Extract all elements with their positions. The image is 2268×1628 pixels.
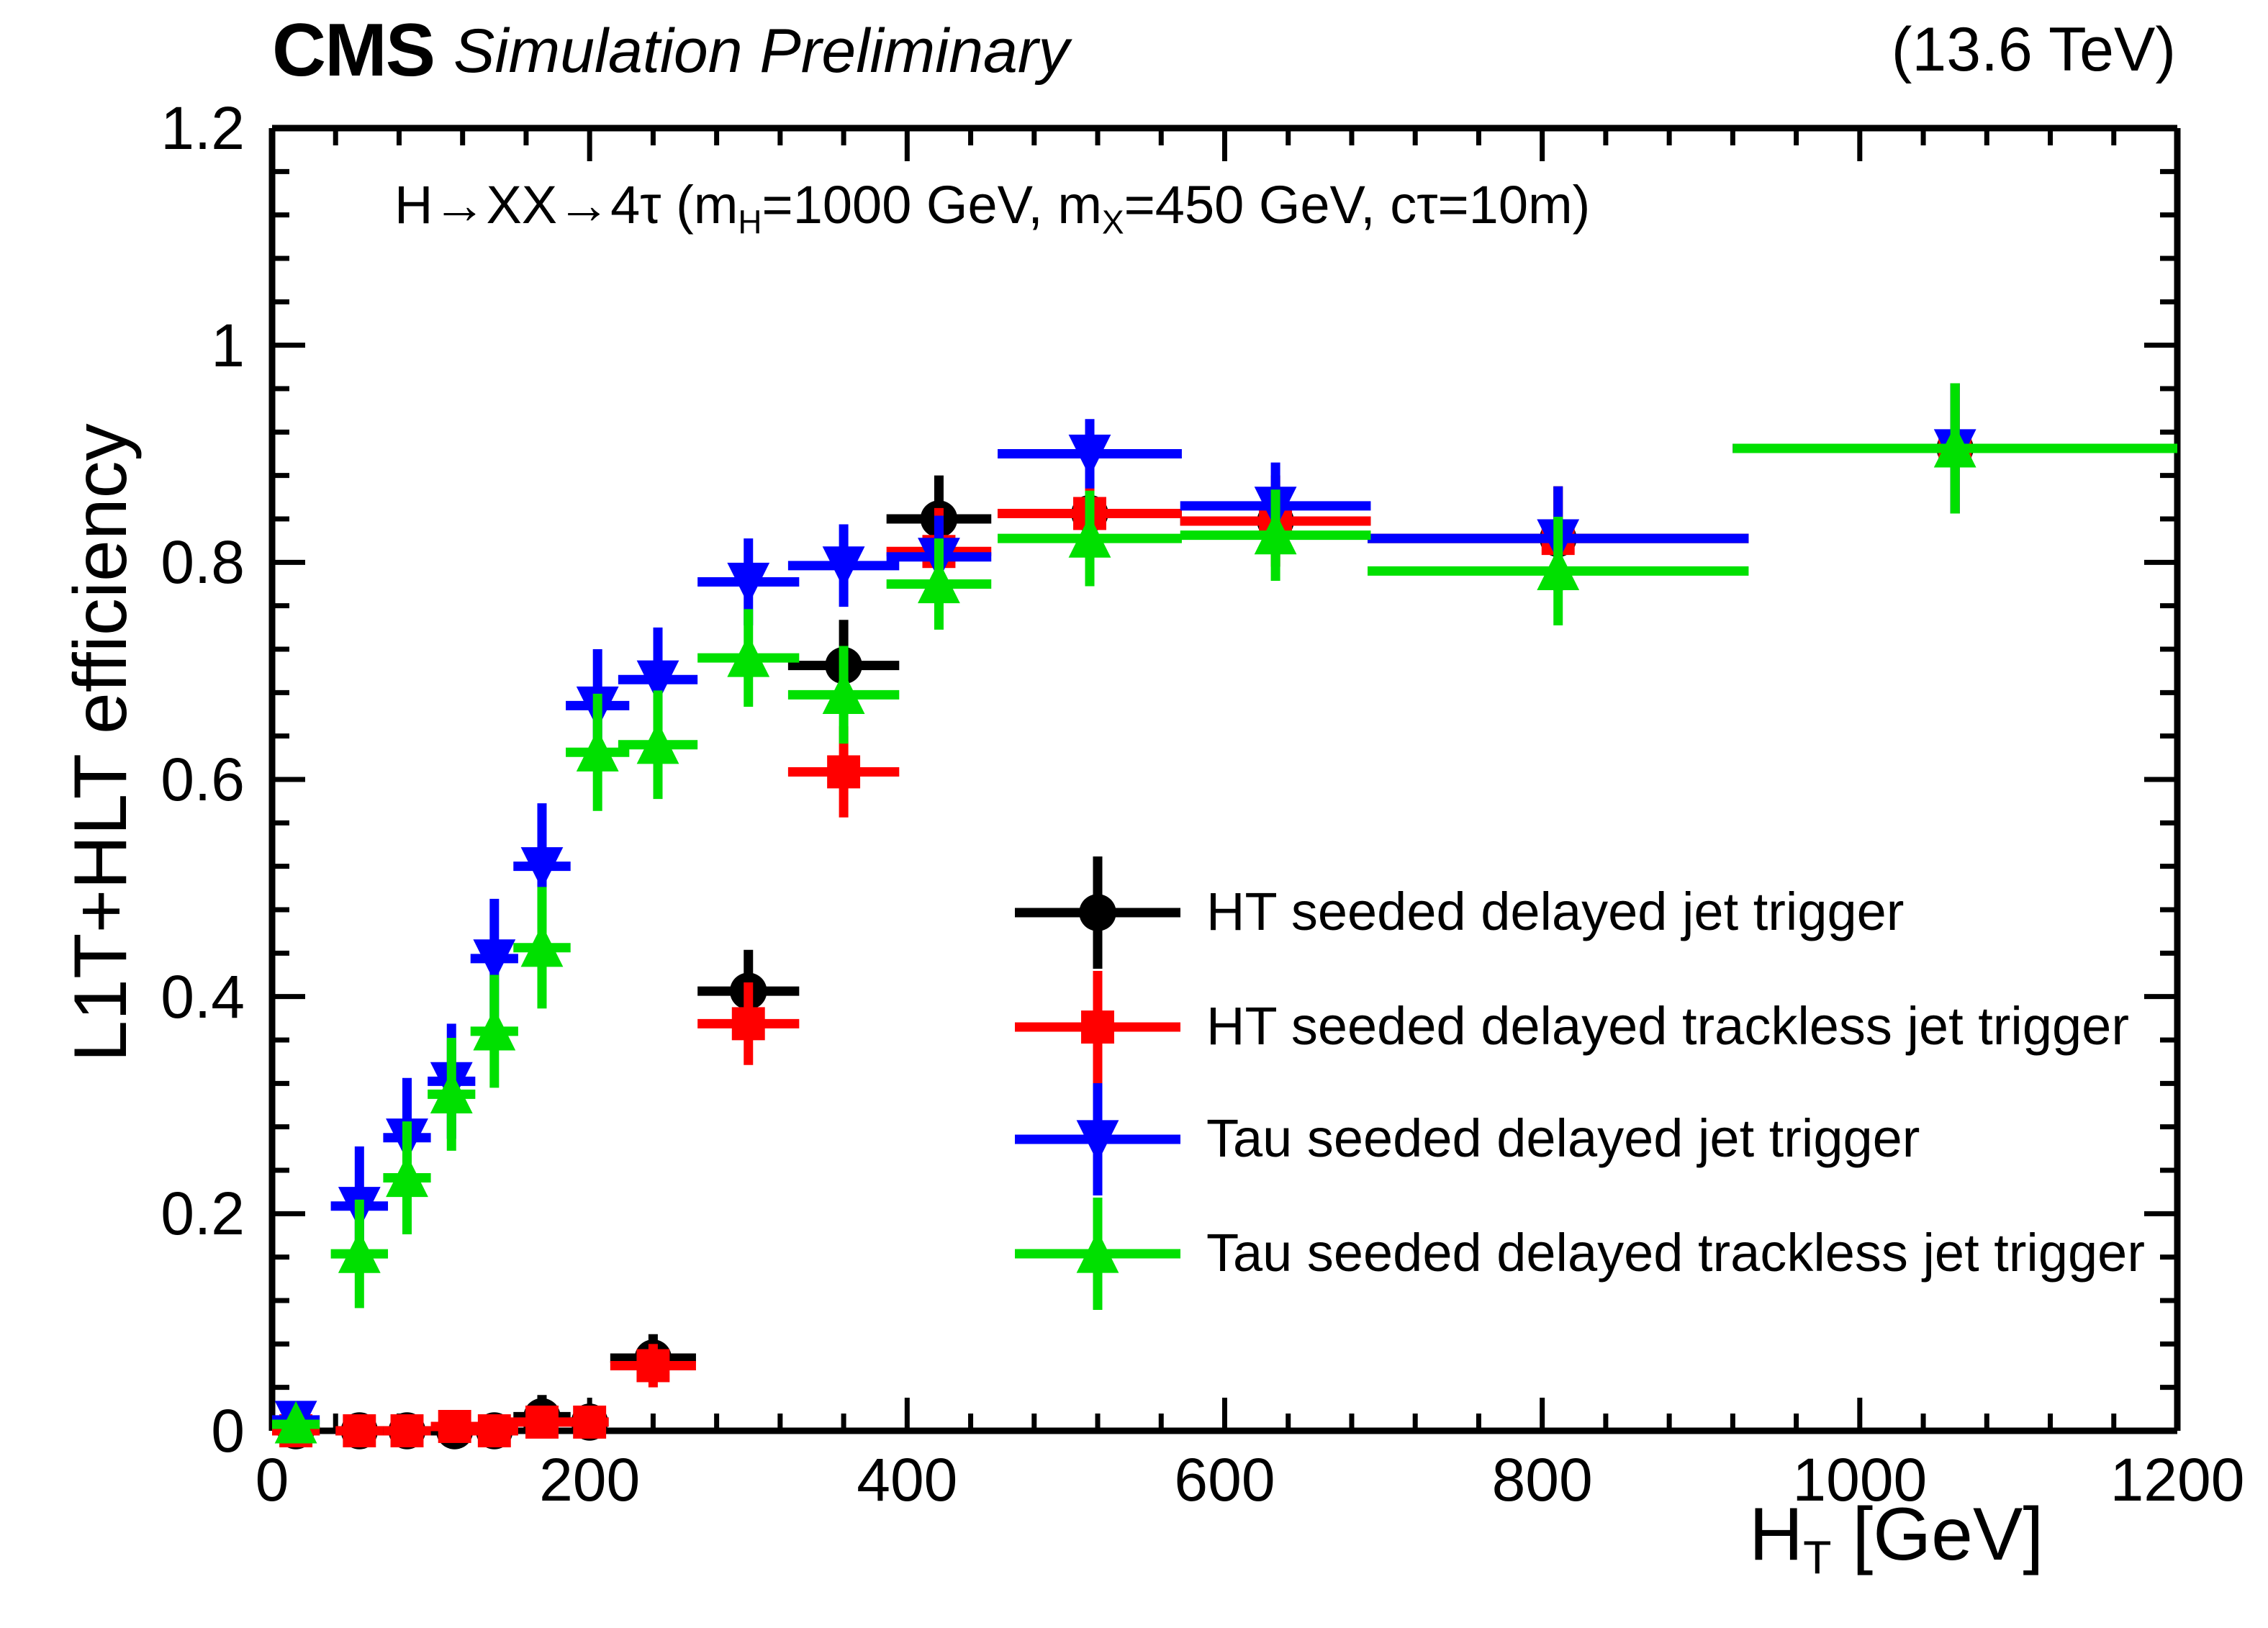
legend-label-1[interactable]: HT seeded delayed trackless jet trigger <box>1206 1000 2129 1053</box>
data-marker-square <box>827 755 860 788</box>
legend-label-3[interactable]: Tau seeded delayed trackless jet trigger <box>1206 1226 2145 1280</box>
data-marker-square <box>732 1007 765 1040</box>
y-tick-label: 1 <box>7 315 245 376</box>
x-tick-label: 600 <box>1117 1450 1333 1510</box>
data-marker-circle <box>1079 894 1116 931</box>
x-tick-label: 400 <box>799 1450 1015 1510</box>
x-tick-label: 1000 <box>1752 1450 1968 1510</box>
legend-label-2[interactable]: Tau seeded delayed jet trigger <box>1206 1112 1920 1165</box>
x-tick-label: 0 <box>164 1450 380 1510</box>
y-tick-label: 1.2 <box>7 98 245 158</box>
legend-entry-3[interactable] <box>1015 1198 1180 1310</box>
data-marker-square <box>636 1349 669 1383</box>
legend-label-0[interactable]: HT seeded delayed jet trigger <box>1206 885 1904 939</box>
data-marker-square <box>573 1406 606 1439</box>
x-tick-label: 1200 <box>2069 1450 2268 1510</box>
legend-entry-1[interactable] <box>1015 971 1180 1083</box>
y-tick-label: 0.6 <box>7 749 245 810</box>
data-marker-square <box>525 1406 559 1439</box>
plot-area <box>0 0 2268 1628</box>
y-tick-label: 0.2 <box>7 1183 245 1244</box>
legend-entry-2[interactable] <box>1015 1083 1180 1195</box>
data-marker-square <box>391 1414 424 1447</box>
data-marker-square <box>438 1410 471 1443</box>
data-marker-square <box>478 1414 511 1447</box>
x-tick-label: 800 <box>1435 1450 1650 1510</box>
legend-entry-0[interactable] <box>1015 856 1180 969</box>
x-tick-label: 200 <box>482 1450 697 1510</box>
figure-canvas: CMS Simulation Preliminary (13.6 TeV) L1… <box>0 0 2268 1628</box>
y-tick-label: 0.4 <box>7 967 245 1027</box>
data-marker-square <box>1081 1010 1114 1044</box>
y-tick-label: 0.8 <box>7 532 245 592</box>
data-marker-square <box>343 1414 376 1447</box>
